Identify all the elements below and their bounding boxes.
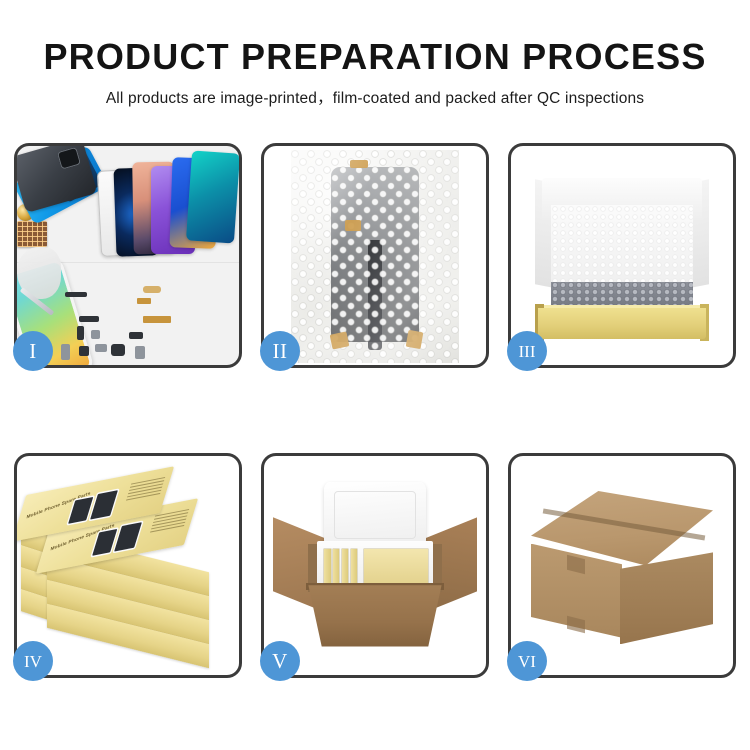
phone-back-housing xyxy=(17,146,98,213)
step-1-image xyxy=(17,146,239,365)
step-6-image xyxy=(511,456,733,675)
bubble-wrap-bag xyxy=(291,150,460,362)
small-part-camera xyxy=(111,344,125,356)
process-step-2[interactable]: II xyxy=(261,143,489,368)
small-part-screwplate xyxy=(91,330,100,339)
step-3-badge: III xyxy=(507,331,547,371)
process-step-5[interactable]: V xyxy=(261,453,489,678)
chip-array-part xyxy=(17,221,47,247)
foam-lid-open xyxy=(324,482,426,548)
step-1-badge: I xyxy=(13,331,53,371)
small-part-sim-tray xyxy=(61,344,70,360)
step-6-badge: VI xyxy=(507,641,547,681)
plastic-sheen xyxy=(291,150,460,362)
page-title: PRODUCT PREPARATION PROCESS xyxy=(0,38,750,76)
small-part-button xyxy=(79,346,89,356)
carton-right-face xyxy=(620,552,713,644)
small-part-ribbon xyxy=(143,316,171,323)
step-2-badge: II xyxy=(260,331,300,371)
process-step-6[interactable]: VI xyxy=(508,453,736,678)
process-step-1[interactable]: I xyxy=(14,143,242,368)
small-part-strip xyxy=(65,292,87,297)
yellow-box-front xyxy=(538,308,707,339)
box-lid-text-lines-top xyxy=(125,477,165,503)
box-stack: Mobile Phone Spare Parts Mobile Phone Sp… xyxy=(17,456,239,675)
process-step-3[interactable]: III xyxy=(508,143,736,368)
small-part-vibrator xyxy=(129,332,143,339)
small-part-shield xyxy=(95,344,107,352)
step-2-image xyxy=(264,146,486,365)
step-4-image: Mobile Phone Spare Parts Mobile Phone Sp… xyxy=(17,456,239,675)
step-3-image xyxy=(511,146,733,365)
box-window-right-second xyxy=(114,522,142,551)
page-header: PRODUCT PREPARATION PROCESS All products… xyxy=(0,0,750,108)
small-part-clip xyxy=(77,326,84,340)
box-window-right-top xyxy=(90,490,118,519)
step-5-image xyxy=(264,456,486,675)
small-part-gold-flex xyxy=(143,286,161,293)
small-part-battery-clip xyxy=(135,346,145,359)
phone-screen-teal xyxy=(186,150,239,243)
carton-tape-lower xyxy=(567,616,585,634)
small-part-connector xyxy=(137,298,151,304)
white-foam-padding xyxy=(551,205,693,284)
step-4-badge: IV xyxy=(13,641,53,681)
page-subtitle: All products are image-printed，film-coat… xyxy=(0,86,750,108)
step-5-badge: V xyxy=(260,641,300,681)
process-step-4[interactable]: Mobile Phone Spare Parts Mobile Phone Sp… xyxy=(14,453,242,678)
process-steps-grid: I II xyxy=(14,143,736,675)
small-part-bracket xyxy=(79,316,99,322)
carton-front-wall xyxy=(308,585,441,646)
